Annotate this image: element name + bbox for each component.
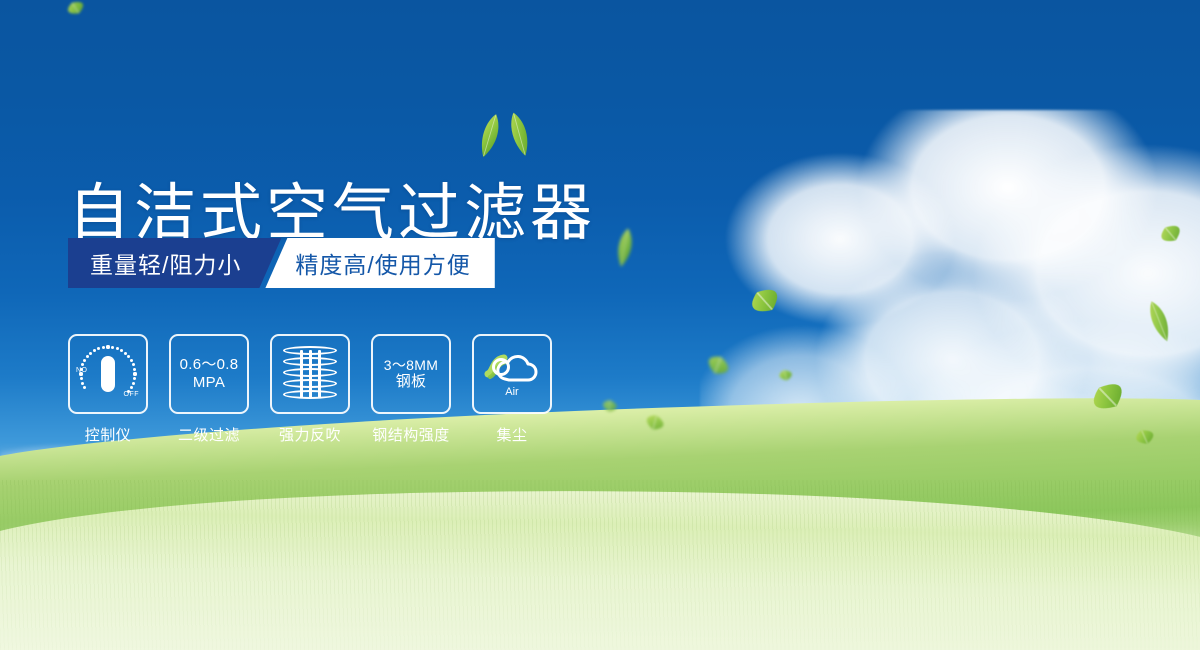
steel-thickness-text: 3～8MM [384, 357, 438, 374]
feature-steel-structure-strength[interactable]: 3～8MM 钢板 钢结构强度 [371, 334, 451, 445]
gauge-tick [133, 377, 136, 380]
hero-banner: 自洁式空气过滤器 重量轻/阻力小 精度高/使用方便 NO OFF 控制仪 [0, 0, 1200, 650]
gauge-tick [89, 352, 92, 355]
gauge-tick [132, 363, 135, 366]
gauge-tick [97, 347, 100, 350]
gauge-tick [132, 382, 135, 385]
feature-dust-collection[interactable]: Air 集尘 [472, 334, 552, 445]
gauge-label-off: OFF [124, 391, 140, 399]
gauge-tick [83, 359, 86, 362]
feature-label-control-instrument: 控制仪 [85, 424, 132, 445]
pressure-unit-text: MPA [193, 374, 225, 392]
gauge-tick [102, 346, 105, 349]
gauge-tick [133, 372, 136, 375]
feature-control-instrument[interactable]: NO OFF 控制仪 [68, 334, 148, 445]
coil-bar [309, 350, 312, 398]
control-instrument-box: NO OFF [68, 334, 148, 414]
feature-label-steel-structure-strength: 钢结构强度 [372, 424, 450, 445]
gauge-tick [81, 363, 84, 366]
gauge-tick [81, 382, 84, 385]
cloud-air-glyph [484, 350, 540, 390]
gauge-tick [80, 368, 83, 371]
gauge-tick [130, 359, 133, 362]
steel-plate-icon: 3～8MM 钢板 [371, 334, 451, 414]
gauge-tick [83, 386, 86, 389]
tagline-badges: 重量轻/阻力小 精度高/使用方便 [68, 238, 495, 288]
gauge-tick [127, 355, 130, 358]
feature-label-two-stage-filter: 二级过滤 [178, 424, 240, 445]
gauge-tick [133, 368, 136, 371]
feature-label-strong-backflush: 强力反吹 [279, 424, 341, 445]
coil-airflow-icon [270, 334, 350, 414]
cloud-air-icon: Air [472, 334, 552, 414]
gauge-tick [93, 349, 96, 352]
gauge-tick [120, 349, 123, 352]
gauge-tick [106, 345, 109, 348]
coil-bar [300, 350, 303, 398]
cloud-air-label: Air [505, 386, 518, 399]
pressure-value-icon: 0.6～0.8 MPA [169, 334, 249, 414]
steel-plate-text: 钢板 [396, 373, 427, 391]
feature-two-stage-filter[interactable]: 0.6～0.8 MPA 二级过滤 [169, 334, 249, 445]
gauge-tick [111, 346, 114, 349]
gauge-needle [101, 356, 115, 392]
gauge-icon: NO OFF [77, 343, 139, 405]
badge-weight-resistance: 重量轻/阻力小 [68, 238, 281, 288]
gauge-tick [130, 386, 133, 389]
pressure-range-text: 0.6～0.8 [180, 356, 239, 374]
gauge-tick [116, 347, 119, 350]
feature-strong-backflush[interactable]: 强力反吹 [270, 334, 350, 445]
gauge-tick [86, 355, 89, 358]
coil-rings [283, 346, 337, 402]
feature-label-dust-collection: 集尘 [496, 424, 527, 445]
gauge-tick [79, 372, 82, 375]
badge-precision-convenience: 精度高/使用方便 [265, 238, 494, 288]
gauge-tick [80, 377, 83, 380]
gauge-tick [124, 352, 127, 355]
page-title: 自洁式空气过滤器 [68, 183, 596, 245]
feature-icon-row: NO OFF 控制仪 0.6～0.8 MPA 二级过滤 [68, 334, 552, 445]
coil-bar [318, 350, 321, 398]
